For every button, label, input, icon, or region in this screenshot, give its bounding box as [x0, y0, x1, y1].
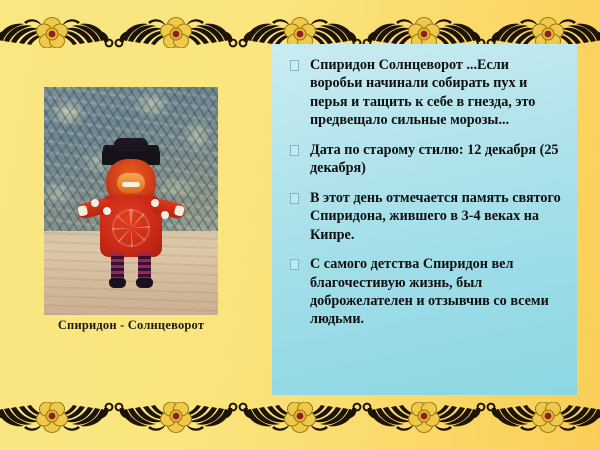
list-item-text: Дата по старому стилю: 12 декабря (25 де…: [310, 142, 559, 176]
flower-icon: [285, 402, 316, 433]
bottom-decorative-border: [0, 402, 600, 450]
bullet-list: Спиридон Солнцеворот ...Если воробьи нач…: [284, 56, 563, 329]
motif-row-bottom: [0, 402, 600, 450]
flower-icon: [409, 402, 440, 433]
text-content-panel: Спиридон Солнцеворот ...Если воробьи нач…: [272, 44, 577, 395]
flower-icon: [37, 18, 68, 49]
khokhloma-motif-icon: [238, 402, 362, 450]
list-item: Дата по старому стилю: 12 декабря (25 де…: [284, 141, 563, 178]
doll-coat-dot: [103, 207, 111, 215]
list-item: С самого детства Спиридон вел благочести…: [284, 255, 563, 329]
top-decorative-border: [0, 0, 600, 48]
flower-icon: [161, 402, 192, 433]
list-item: Спиридон Солнцеворот ...Если воробьи нач…: [284, 56, 563, 130]
doll-leg-right: [138, 253, 151, 283]
khokhloma-motif-icon: [486, 0, 600, 48]
list-item-text: Спиридон Солнцеворот ...Если воробьи нач…: [310, 57, 535, 128]
doll-leg-left: [111, 253, 124, 283]
photo-canvas: [44, 87, 218, 315]
flower-icon: [37, 402, 68, 433]
photo-caption: Спиридон - Солнцеворот: [20, 318, 242, 333]
list-item-text: В этот день отмечается память святого Сп…: [310, 190, 561, 243]
flower-icon: [533, 402, 564, 433]
doll-coat-dot: [91, 199, 99, 207]
bullet-marker-icon: [290, 60, 299, 71]
list-item-text: С самого детства Спиридон вел благочести…: [310, 256, 549, 327]
bullet-marker-icon: [290, 259, 299, 270]
khokhloma-motif-icon: [362, 0, 486, 48]
khokhloma-motif-icon: [114, 0, 238, 48]
khokhloma-motif-icon: [0, 0, 114, 48]
slide-canvas: Спиридон - Солнцеворот Спиридон Солнцево…: [0, 0, 600, 450]
khokhloma-motif-icon: [114, 402, 238, 450]
khokhloma-motif-icon: [0, 402, 114, 450]
khokhloma-motif-icon: [486, 402, 600, 450]
doll-coat-dot: [151, 199, 159, 207]
motif-row-top: [0, 0, 600, 48]
doll-coat-dot: [161, 211, 169, 219]
doll-coat-emblem: [112, 209, 150, 247]
doll-photo: [44, 87, 218, 315]
khokhloma-motif-icon: [238, 0, 362, 48]
khokhloma-motif-icon: [362, 402, 486, 450]
bullet-marker-icon: [290, 145, 299, 156]
bullet-marker-icon: [290, 193, 299, 204]
doll-figure: [83, 149, 179, 289]
list-item: В этот день отмечается память святого Сп…: [284, 189, 563, 244]
flower-icon: [161, 18, 192, 49]
doll-face: [117, 173, 145, 193]
